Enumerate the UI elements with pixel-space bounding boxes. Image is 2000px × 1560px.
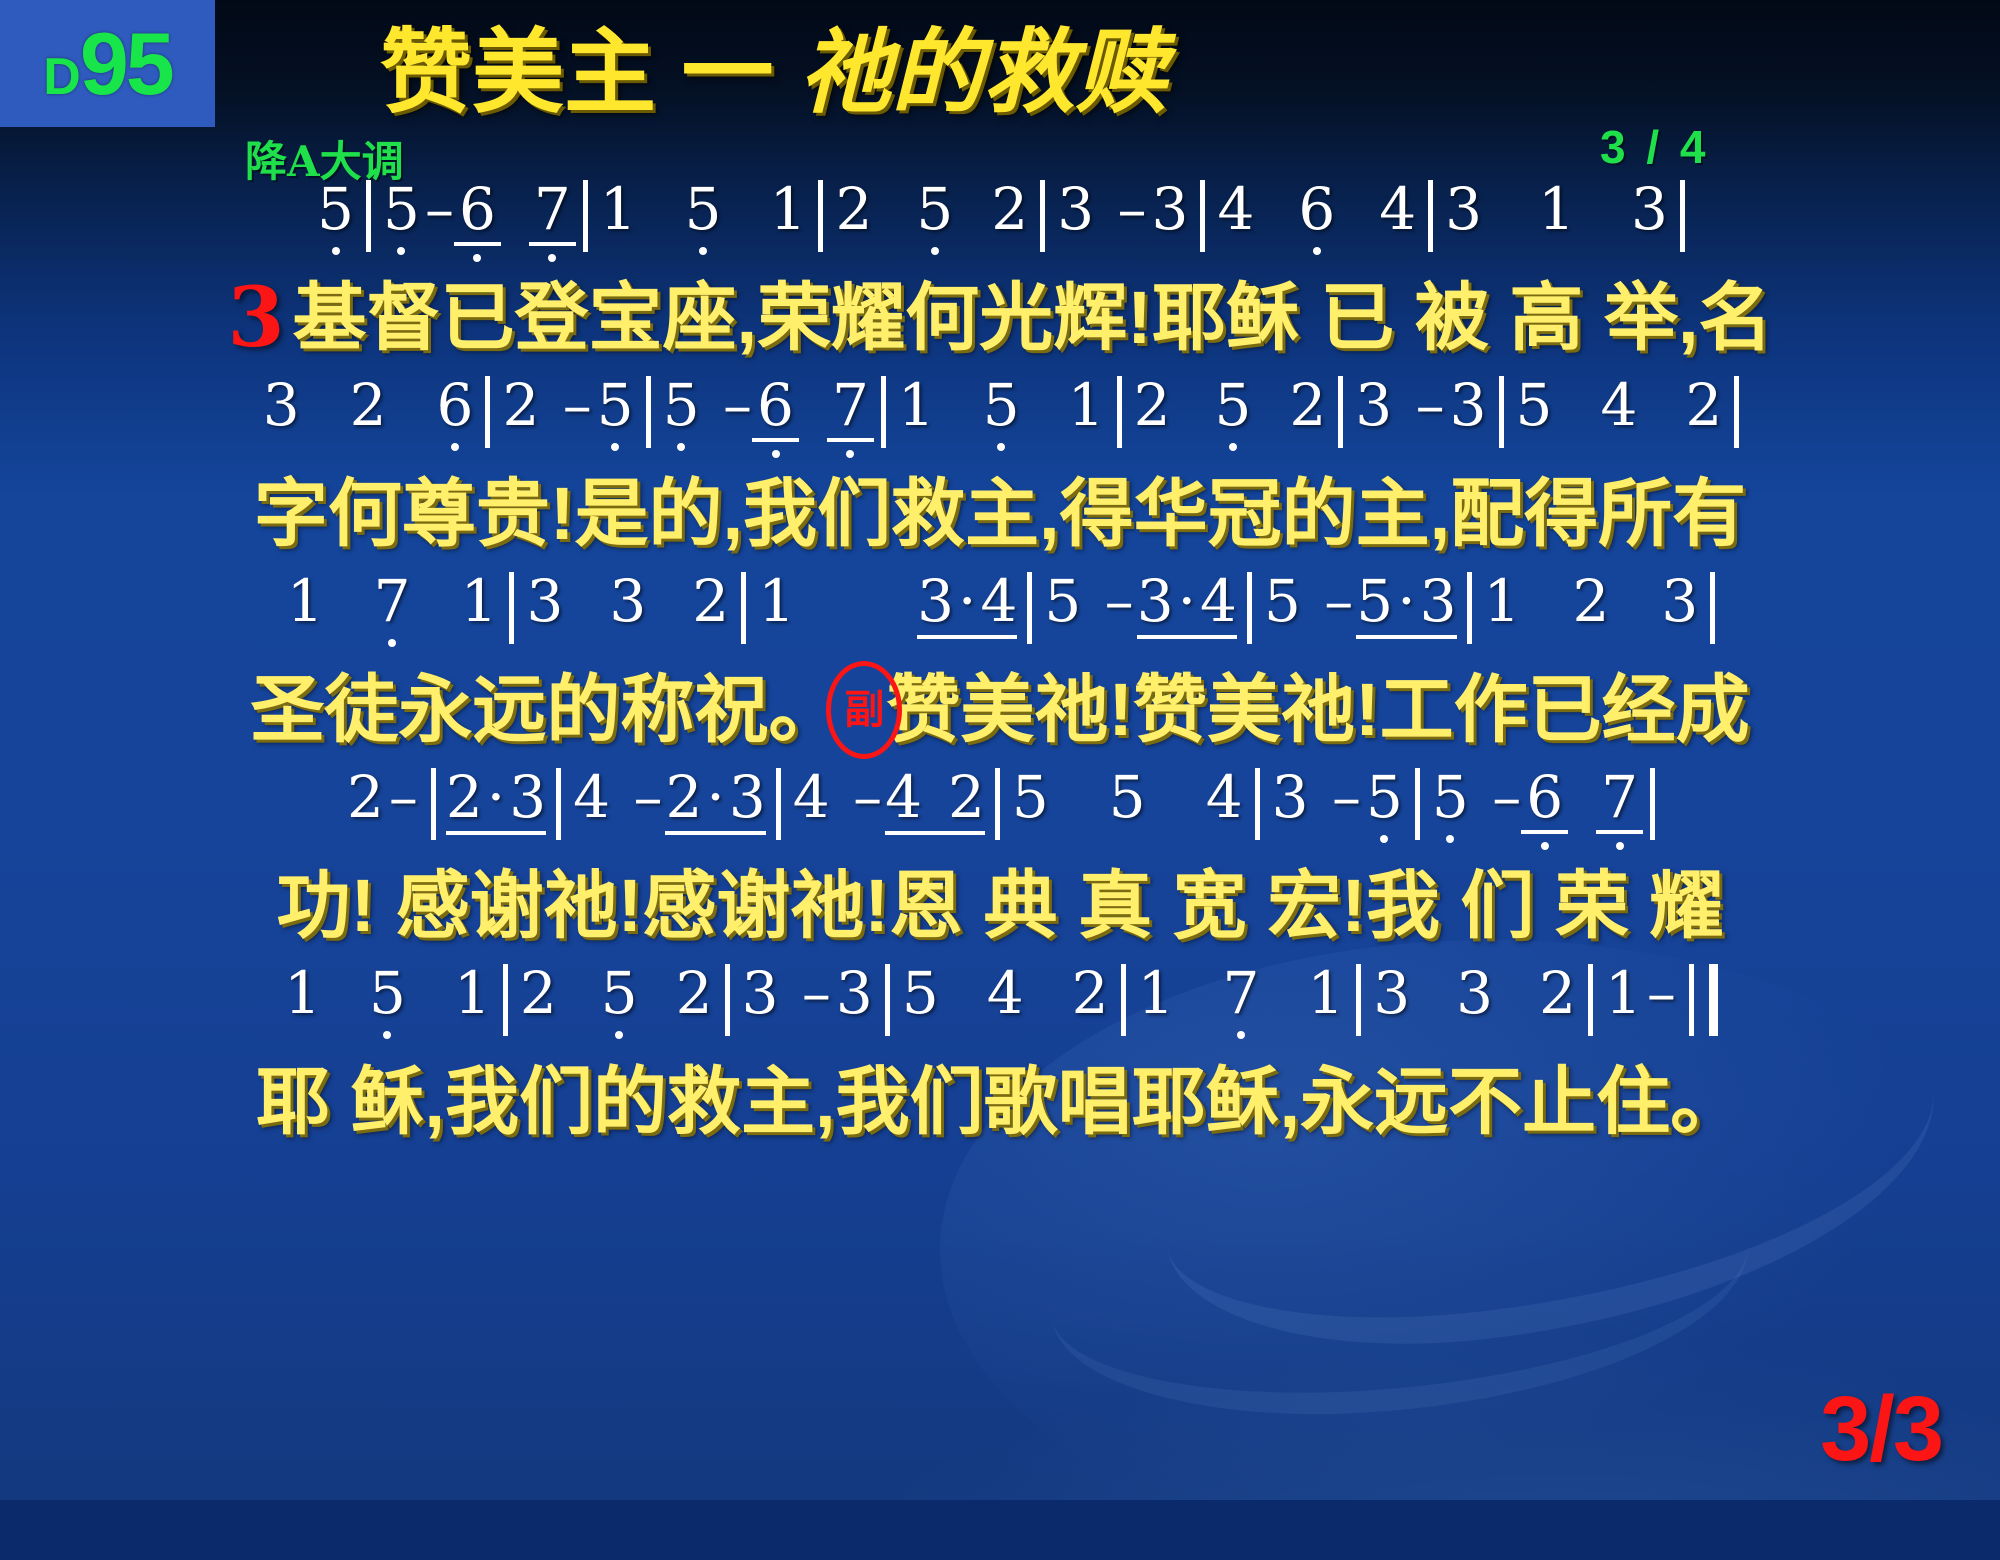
notation-row: 2– 2·3 4 – 2·3 4 – 42 5 5 4 3 –5 5 –6 7 xyxy=(0,768,2000,854)
notation-row: 1 5 1 2 5 2 3 –3 5 4 2 1 7 1 3 3 2 xyxy=(0,964,2000,1050)
lyrics-text-part2: 赞美祂!赞美祂!工作已经成 xyxy=(886,673,1749,747)
page-title: 赞美主 一 祂的救赎 xyxy=(380,24,1580,122)
lyrics-text: 基督已登宝座,荣耀何光辉!耶稣 已 被 高 举,名 xyxy=(293,281,1773,355)
verse-number: 3 xyxy=(227,277,284,359)
notation-row: 5 5–6 7 1 5 1 2 5 2 3 –3 4 6 4 3 1 xyxy=(0,180,2000,266)
lyrics-text: 字何尊贵!是的,我们救主,得华冠的主,配得所有 xyxy=(254,477,1746,551)
lyrics-text-part: 圣徒永远的称祝。 xyxy=(250,673,842,747)
music-system: 1 7 1 3 3 2 1 3·4 5 – 3·4 5 – 5·3 1 2 3 xyxy=(0,572,2000,762)
page-number-label: 3/3 xyxy=(1820,1377,1942,1482)
music-staves: 5 5–6 7 1 5 1 2 5 2 3 –3 4 6 4 3 1 xyxy=(0,180,2000,1160)
chorus-marker: 副 xyxy=(844,690,884,730)
lyrics-row: 字何尊贵!是的,我们救主,得华冠的主,配得所有 xyxy=(0,462,2000,566)
hymn-badge-prefix: D xyxy=(43,51,80,103)
lyrics-row: 功! 感谢祂!感谢祂!恩 典 真 宽 宏!我 们 荣 耀 xyxy=(0,854,2000,958)
music-system: 3 2 6 2 –5 5 –6 7 1 5 1 2 5 2 3 –3 5 xyxy=(0,376,2000,566)
notation-row: 1 7 1 3 3 2 1 3·4 5 – 3·4 5 – 5·3 1 2 3 xyxy=(0,572,2000,658)
music-system: 1 5 1 2 5 2 3 –3 5 4 2 1 7 1 3 3 2 xyxy=(0,964,2000,1154)
hymn-badge-number: 95 xyxy=(80,20,172,108)
notation-row: 3 2 6 2 –5 5 –6 7 1 5 1 2 5 2 3 –3 5 xyxy=(0,376,2000,462)
music-system: 5 5–6 7 1 5 1 2 5 2 3 –3 4 6 4 3 1 xyxy=(0,180,2000,370)
lyrics-row: 耶 稣,我们的救主,我们歌唱耶稣,永远不止住。 xyxy=(0,1050,2000,1154)
lyrics-row: 圣徒永远的称祝。副赞美祂!赞美祂!工作已经成 xyxy=(0,658,2000,762)
slide-canvas: D 95 赞美主 一 祂的救赎 降A大调 3 / 4 3/3 5 5–6 7 1… xyxy=(0,0,2000,1500)
time-signature-label: 3 / 4 xyxy=(1600,120,1710,174)
hymn-number-badge: D 95 xyxy=(0,0,215,127)
lyrics-row: 3 基督已登宝座,荣耀何光辉!耶稣 已 被 高 举,名 xyxy=(0,266,2000,370)
background-swoosh-line-2 xyxy=(1042,1124,1759,1434)
lyrics-text: 功! 感谢祂!感谢祂!恩 典 真 宽 宏!我 们 荣 耀 xyxy=(276,869,1723,943)
lyrics-text: 耶 稣,我们的救主,我们歌唱耶稣,永远不止住。 xyxy=(256,1065,1744,1139)
title-main: 赞美主 一 xyxy=(380,22,774,124)
title-subtitle: 祂的救赎 xyxy=(799,18,1167,126)
music-system: 2– 2·3 4 – 2·3 4 – 42 5 5 4 3 –5 5 –6 7 xyxy=(0,768,2000,958)
